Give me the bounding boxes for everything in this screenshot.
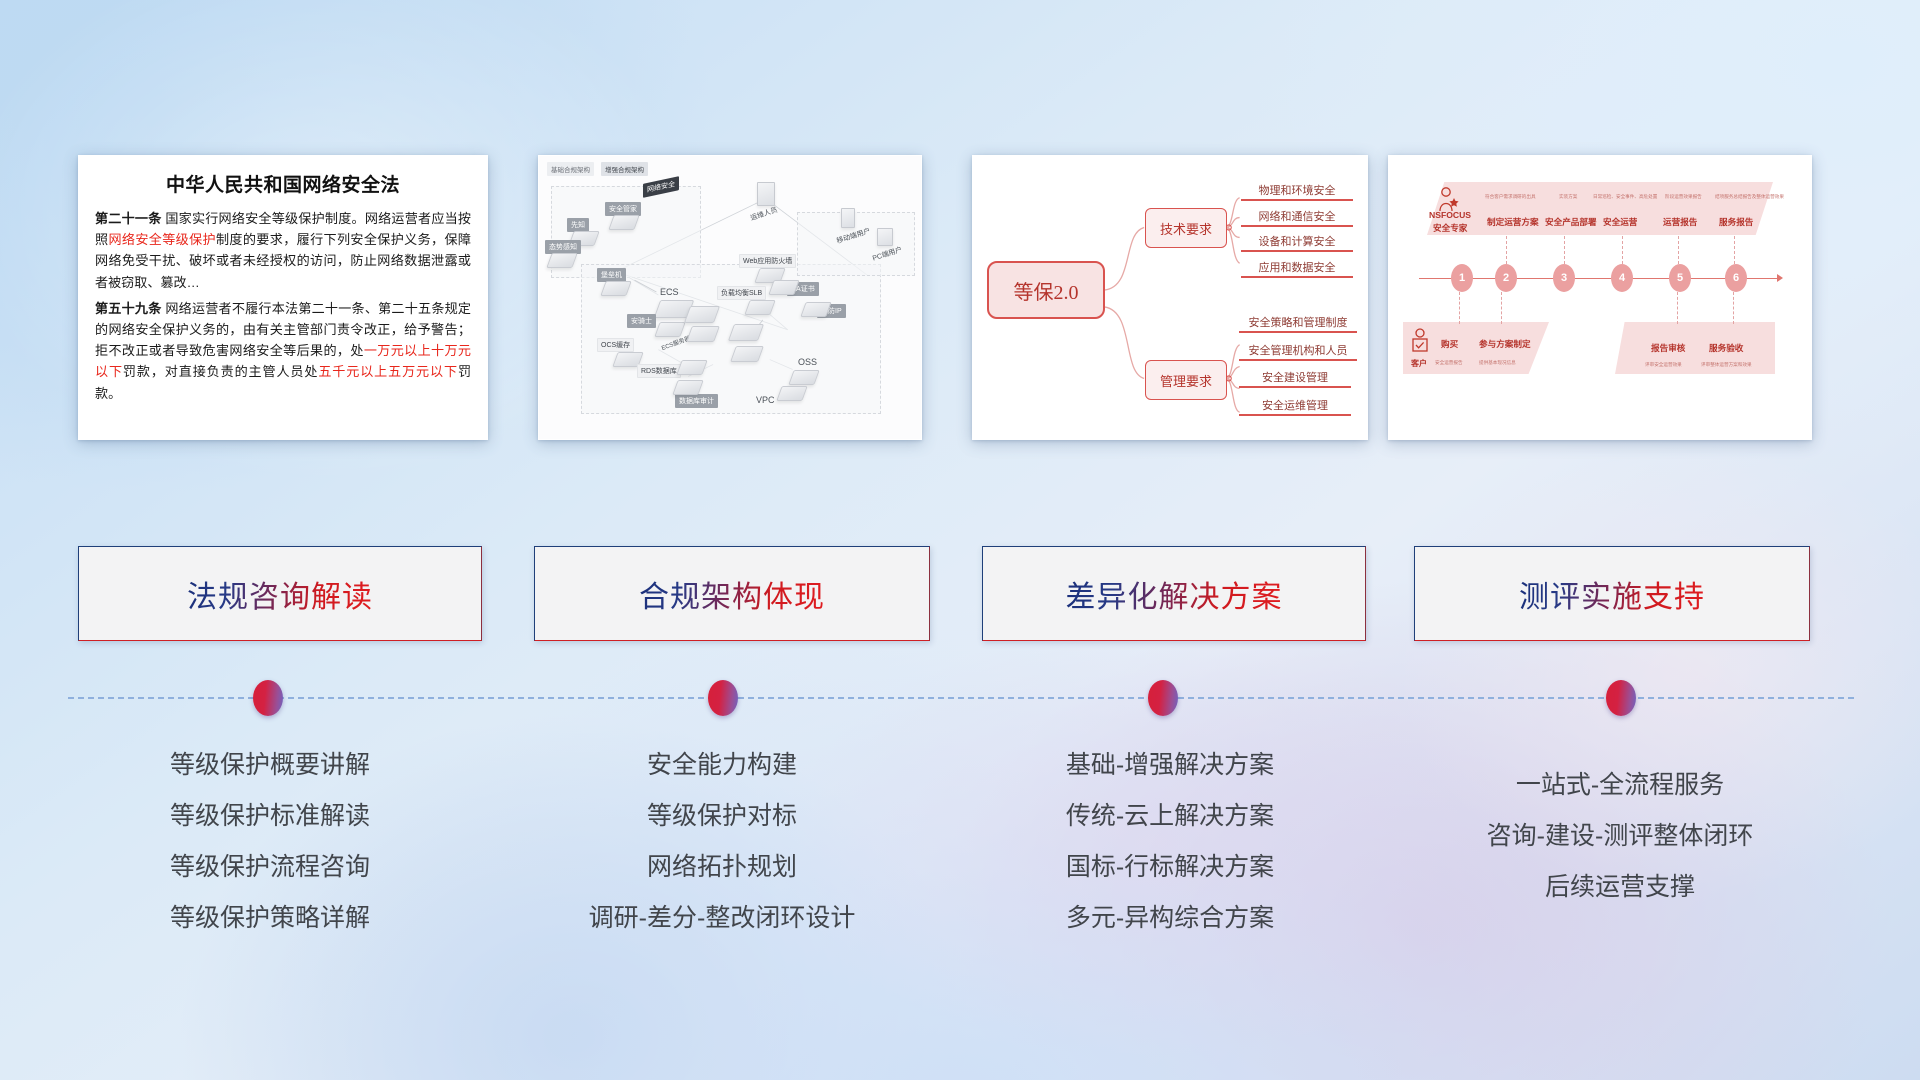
timeline-marker-5: 5 [1669, 264, 1691, 292]
list-item: 咨询-建设-测评整体闭环 [1400, 811, 1840, 862]
top-step-4-sub: 阶段运营效果报告 [1665, 194, 1702, 200]
mindmap-leaf-ops-mgmt: 安全运维管理 [1239, 397, 1351, 416]
mindmap-leaf-construction-mgmt: 安全建设管理 [1239, 369, 1351, 388]
connector-top-5 [1678, 236, 1679, 264]
timeline-dashed-line [68, 697, 1854, 699]
mindmap-leaf-device-compute: 设备和计算安全 [1241, 233, 1353, 252]
bottom-step-2-title: 参与方案制定 [1479, 338, 1531, 350]
list-item: 多元-异构综合方案 [950, 893, 1390, 944]
connector-bottom-6 [1733, 292, 1734, 324]
law-article-59: 第五十九条 网络运营者不履行本法第二十一条、第二十五条规定的网络安全保护义务的，… [95, 298, 471, 404]
list-item: 国标-行标解决方案 [950, 842, 1390, 893]
connector-top-2 [1506, 236, 1507, 264]
law-text-block: 中华人民共和国网络安全法 第二十一条 国家实行网络安全等级保护制度。网络运营者应… [79, 156, 487, 419]
section-title-box-3[interactable]: 差异化解决方案 [982, 546, 1366, 641]
timeline-marker-6: 6 [1725, 264, 1747, 292]
section-title-4-label: 测评实施支持 [1519, 572, 1705, 616]
section-title-box-2[interactable]: 合规架构体现 [534, 546, 930, 641]
mindmap-branch-management: 管理要求 [1145, 360, 1227, 400]
connector-top-6 [1734, 236, 1735, 264]
section-title-box-4[interactable]: 测评实施支持 [1414, 546, 1810, 641]
top-step-5-title: 服务报告 [1719, 216, 1753, 228]
preview-card-row: 中华人民共和国网络安全法 第二十一条 国家实行网络安全等级保护制度。网络运营者应… [0, 155, 1920, 450]
top-step-5-sub: 结项服务总结报告及整体运营效果 [1715, 194, 1784, 200]
bottom-step-2-sub: 提供基本现况信息 [1479, 360, 1516, 366]
timeline-node-2[interactable] [708, 680, 738, 716]
list-item: 等级保护策略详解 [60, 893, 480, 944]
bottom-step-4-sub: 评审整体运营方案和效果 [1701, 362, 1752, 368]
nsfocus-brand-role: 安全专家 [1433, 222, 1467, 234]
bottom-step-1-sub: 安全运营报告 [1435, 360, 1463, 366]
timeline-node-4[interactable] [1606, 680, 1636, 716]
mindmap-leaf-network-comm: 网络和通信安全 [1241, 208, 1353, 227]
list-item: 等级保护流程咨询 [60, 842, 480, 893]
nsfocus-brand: NSFOCUS [1429, 210, 1471, 220]
bottom-step-1-title: 购买 [1441, 338, 1458, 350]
timeline-marker-1: 1 [1451, 264, 1473, 292]
top-step-3-sub: 日常巡检、安全事件、高危处置 [1593, 194, 1657, 200]
card-cloud-architecture[interactable]: 基础合规架构 增强合规架构 [538, 155, 922, 440]
feature-list-4: 一站式-全流程服务 咨询-建设-测评整体闭环 后续运营支撑 [1400, 760, 1840, 913]
top-step-3-title: 安全运营 [1603, 216, 1637, 228]
top-step-4-title: 运营报告 [1663, 216, 1697, 228]
expert-avatar-icon [1437, 186, 1459, 212]
card-cybersecurity-law[interactable]: 中华人民共和国网络安全法 第二十一条 国家实行网络安全等级保护制度。网络运营者应… [78, 155, 488, 440]
top-step-2-sub: 实装方案 [1559, 194, 1577, 200]
law-article-59-number: 第五十九条 [95, 301, 162, 316]
nsfocus-timeline: NSFOCUS 安全专家 符合客户需求调研的出具 制定运营方案 实装方案 安全产… [1389, 156, 1811, 439]
timeline-marker-2: 2 [1495, 264, 1517, 292]
list-item: 等级保护标准解读 [60, 791, 480, 842]
mindmap-root: 等保2.0 [987, 261, 1105, 319]
list-item: 等级保护对标 [512, 791, 932, 842]
list-item: 后续运营支撑 [1400, 862, 1840, 913]
connector-top-4 [1622, 236, 1623, 264]
section-title-row: 法规咨询解读 合规架构体现 差异化解决方案 测评实施支持 [0, 546, 1920, 641]
section-title-3-label: 差异化解决方案 [1066, 572, 1283, 616]
card-nsfocus-service-flow[interactable]: NSFOCUS 安全专家 符合客户需求调研的出具 制定运营方案 实装方案 安全产… [1388, 155, 1812, 440]
architecture-diagram: 基础合规架构 增强合规架构 [539, 156, 921, 439]
slide-stage: 中华人民共和国网络安全法 第二十一条 国家实行网络安全等级保护制度。网络运营者应… [0, 0, 1920, 1080]
timeline-marker-3: 3 [1553, 264, 1575, 292]
list-item: 调研-差分-整改闭环设计 [512, 893, 932, 944]
customer-avatar-icon [1411, 328, 1429, 356]
list-item: 等级保护概要讲解 [60, 740, 480, 791]
top-step-2-title: 安全产品部署 [1545, 216, 1597, 228]
law-article-59-text-2: 罚款，对直接负责的主管人员处 [123, 364, 318, 379]
bottom-step-4-title: 服务验收 [1709, 342, 1743, 354]
connector-bottom-1 [1459, 292, 1460, 324]
section-title-2-label: 合规架构体现 [639, 572, 825, 616]
connector-bottom-2 [1501, 292, 1502, 324]
top-step-1-sub: 符合客户需求调研的出具 [1485, 194, 1536, 200]
mindmap-leaf-policy-system: 安全策略和管理制度 [1239, 314, 1357, 333]
list-item: 基础-增强解决方案 [950, 740, 1390, 791]
connector-top-3 [1564, 236, 1565, 264]
list-item: 安全能力构建 [512, 740, 932, 791]
list-item: 网络拓扑规划 [512, 842, 932, 893]
list-item: 一站式-全流程服务 [1400, 760, 1840, 811]
mindmap-leaf-physical-env: 物理和环境安全 [1241, 182, 1353, 201]
law-article-21-number: 第二十一条 [95, 211, 162, 226]
mindmap-leaf-app-data: 应用和数据安全 [1241, 259, 1353, 278]
law-title: 中华人民共和国网络安全法 [95, 170, 471, 197]
section-title-box-1[interactable]: 法规咨询解读 [78, 546, 482, 641]
list-item: 传统-云上解决方案 [950, 791, 1390, 842]
law-article-59-fine-person: 五千元以上五万元以下 [318, 364, 458, 379]
mindmap-branch-technical: 技术要求 [1145, 208, 1227, 248]
law-article-21-highlight: 网络安全等级保护 [108, 232, 216, 247]
timeline-node-3[interactable] [1148, 680, 1178, 716]
card-dengbao-mindmap[interactable]: 等保2.0 技术要求 物理和环境安全 网络和通信安全 设备和计算安全 应用和数据… [972, 155, 1368, 440]
bottom-step-3-sub: 评审安全运营效果 [1645, 362, 1682, 368]
timeline-arrow-icon [1777, 274, 1783, 282]
section-title-1-label: 法规咨询解读 [187, 572, 373, 616]
feature-list-3: 基础-增强解决方案 传统-云上解决方案 国标-行标解决方案 多元-异构综合方案 [950, 740, 1390, 944]
timeline-node-1[interactable] [253, 680, 283, 716]
mindmap-diagram: 等保2.0 技术要求 物理和环境安全 网络和通信安全 设备和计算安全 应用和数据… [973, 156, 1367, 439]
connector-bottom-5 [1677, 292, 1678, 324]
feature-list-1: 等级保护概要讲解 等级保护标准解读 等级保护流程咨询 等级保护策略详解 [60, 740, 480, 944]
law-article-21: 第二十一条 国家实行网络安全等级保护制度。网络运营者应当按照网络安全等级保护制度… [95, 208, 471, 293]
mindmap-leaf-org-personnel: 安全管理机构和人员 [1239, 342, 1357, 361]
feature-list-2: 安全能力构建 等级保护对标 网络拓扑规划 调研-差分-整改闭环设计 [512, 740, 932, 944]
timeline-marker-4: 4 [1611, 264, 1633, 292]
bottom-step-3-title: 报告审核 [1651, 342, 1685, 354]
top-step-1-title: 制定运营方案 [1487, 216, 1539, 228]
customer-role-label: 客户 [1411, 358, 1427, 369]
